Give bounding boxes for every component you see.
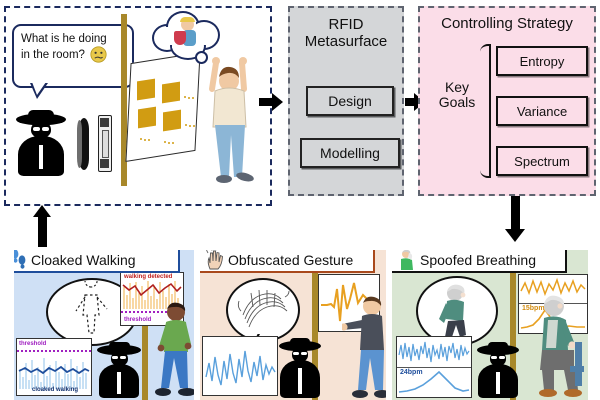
scenario-label-text: Obfuscated Gesture <box>228 252 353 268</box>
key-goals-line-1: Key <box>430 80 484 95</box>
footprints-icon <box>14 250 27 271</box>
key-goals-line-2: Goals <box>430 95 484 110</box>
bubble-tail-inner <box>32 82 46 95</box>
key-goals-brace <box>480 44 491 178</box>
chart-label-threshold: threshold <box>124 317 151 323</box>
confused-face-emoji <box>90 46 107 63</box>
strategy-goal-variance[interactable]: Variance <box>496 96 588 126</box>
strategy-goal-variance-label: Variance <box>517 104 567 119</box>
chart-cloaked-walking-attacker: threshold cloaked walking <box>16 338 92 396</box>
strategy-goal-spectrum-label: Spectrum <box>514 154 570 169</box>
rfid-reader-icon <box>98 115 112 172</box>
chart-label-cloaked-walking: cloaked walking <box>32 387 78 393</box>
key-goals-label: Key Goals <box>430 80 484 111</box>
chart-obfuscated-gesture-attacker <box>202 336 278 396</box>
question-line-2: in the room? <box>21 48 85 62</box>
waving-hand-icon <box>206 250 224 271</box>
scenario-label-text: Cloaked Walking <box>31 252 136 268</box>
rfid-item-design-label: Design <box>328 93 372 109</box>
spy-silhouette-gesture <box>278 338 322 398</box>
strategy-goal-entropy[interactable]: Entropy <box>496 46 588 76</box>
scenario-spoofed-breathing: 24bpm 15bpm <box>392 250 588 400</box>
rfid-metasurface-panel: RFID Metasurface Design Modelling <box>288 6 404 196</box>
strategy-title: Controlling Strategy <box>420 16 594 33</box>
person-raising-arms-icon <box>200 55 260 183</box>
controlling-strategy-panel: Controlling Strategy Key Goals Entropy V… <box>418 6 596 196</box>
scenario-label-text: Spoofed Breathing <box>420 252 536 268</box>
rfid-title-line-2: Metasurface <box>290 34 402 51</box>
rfid-antenna-icon <box>77 118 91 170</box>
rfid-item-modelling-label: Modelling <box>320 145 380 161</box>
strategy-goal-spectrum[interactable]: Spectrum <box>496 146 588 176</box>
arrow-sensing-to-rfid <box>259 92 287 112</box>
arrow-strategy-to-breathing <box>505 196 527 244</box>
metasurface-panel-icon <box>128 58 198 156</box>
person-in-thought <box>174 18 200 48</box>
rfid-title-line-1: RFID <box>290 17 402 34</box>
walking-person-icon <box>154 302 194 398</box>
person-gesturing-icon <box>342 294 386 400</box>
scenario-label-spoofed-breathing[interactable]: Spoofed Breathing <box>392 250 567 273</box>
person-coughing-icon <box>398 250 416 271</box>
scenario-cloaked-walking: threshold cloaked walking <box>14 250 194 400</box>
rfid-item-design[interactable]: Design <box>306 86 394 116</box>
chart-spoofed-breathing-attacker: 24bpm <box>396 336 472 398</box>
spy-silhouette-breathing <box>476 342 520 398</box>
scenario-obfuscated-gesture: Obfuscated Gesture <box>200 250 386 400</box>
scenario-label-cloaked-walking[interactable]: Cloaked Walking <box>14 250 180 273</box>
strategy-goal-entropy-label: Entropy <box>520 54 565 69</box>
sitting-person-icon <box>534 292 586 400</box>
arrow-walking-to-sensing <box>33 205 53 247</box>
spy-silhouette <box>14 110 68 176</box>
attacker-question-bubble: What is he doing in the room? <box>12 24 134 88</box>
rfid-item-modelling[interactable]: Modelling <box>300 138 400 168</box>
spy-silhouette-walking <box>96 342 142 398</box>
scenario-label-obfuscated-gesture[interactable]: Obfuscated Gesture <box>200 250 375 273</box>
question-line-1: What is he doing <box>21 32 128 46</box>
